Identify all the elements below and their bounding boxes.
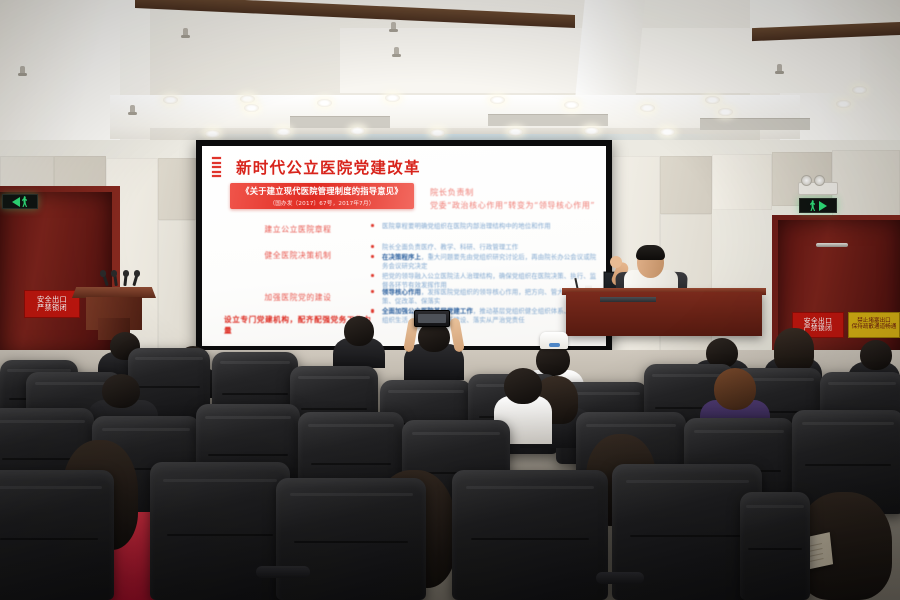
downlight xyxy=(490,96,505,104)
chair-armrest xyxy=(256,566,310,578)
head xyxy=(714,368,756,410)
downlight xyxy=(385,94,400,102)
wall-panel xyxy=(660,156,712,214)
exit-sign-left xyxy=(2,194,38,209)
emergency-lamp xyxy=(814,175,825,186)
podium-microphone-head xyxy=(100,270,106,277)
downlight xyxy=(640,104,655,112)
slide-row-label-3: 加强医院党的建设 xyxy=(232,292,364,303)
audience-chair[interactable] xyxy=(150,462,290,600)
bullet-dot-icon xyxy=(371,274,374,277)
running-man-icon xyxy=(22,196,29,207)
ceiling-center-column xyxy=(575,0,645,100)
bullet-emphasis: 在决策程序上 xyxy=(382,253,421,261)
slide-note-2: 党委“政治核心作用”转变为“领导核心作用” xyxy=(430,200,595,211)
exit-sign-right xyxy=(799,198,837,213)
downlight xyxy=(350,127,365,135)
audience-chair[interactable] xyxy=(0,470,114,600)
downlight xyxy=(660,128,675,136)
slide-bullet: 医院章程要明确党组织在医院内部治理结构中的地位和作用 xyxy=(370,222,600,231)
podium-microphone-head xyxy=(123,270,129,277)
banner-document-number: （国办发〔2017〕67号，2017年7月） xyxy=(269,199,374,207)
exit-door-left[interactable]: 安全出口 严禁锁闭 xyxy=(0,192,112,356)
ceiling xyxy=(0,0,900,150)
sign-line-2: 严禁锁闭 xyxy=(804,325,832,332)
bullet-dot-icon xyxy=(371,309,374,312)
downlight xyxy=(244,104,259,112)
audience-chair[interactable] xyxy=(452,470,608,600)
downlight xyxy=(508,128,523,136)
bullet-dot-icon xyxy=(371,290,374,293)
sprinkler-head xyxy=(130,105,135,114)
audience-chair[interactable] xyxy=(740,492,810,600)
audience-chair[interactable] xyxy=(276,478,426,600)
smartphone[interactable] xyxy=(414,310,450,327)
downlight xyxy=(836,100,851,108)
sprinkler-head xyxy=(777,64,782,73)
laptop-base xyxy=(600,297,656,302)
sprinkler-head xyxy=(391,22,396,31)
room: 安全出口 严禁锁闭 安全出口 严禁锁闭 禁止堵塞出口 保持疏散通道畅通 xyxy=(0,0,900,600)
air-vent xyxy=(290,116,390,128)
bullet-dot-icon xyxy=(371,245,374,248)
slide-title: 新时代公立医院党建改革 xyxy=(236,156,421,178)
nurse-cap xyxy=(540,332,568,349)
long-hair xyxy=(774,328,814,372)
conference-hall-photo: 安全出口 严禁锁闭 安全出口 严禁锁闭 禁止堵塞出口 保持疏散通道畅通 xyxy=(0,0,900,600)
head xyxy=(102,374,140,408)
slide-row-bullets-2: 院长全面负责医疗、教学、科研、行政管理工作 在决策程序上，重大问题要先由党组织研… xyxy=(370,243,600,291)
speaker-hair xyxy=(636,245,665,260)
downlight xyxy=(564,101,579,109)
air-vent xyxy=(488,114,608,126)
downlight xyxy=(584,127,599,135)
air-vent xyxy=(700,118,810,130)
wall-panel xyxy=(158,158,196,220)
bullet-text: 把党的领导融入公立医院法人治理结构，确保党组织在医院决策、执行、监督各环节有效发… xyxy=(382,272,596,289)
speaker-hand xyxy=(610,256,622,268)
slide-bullet: 院长全面负责医疗、教学、科研、行政管理工作 xyxy=(370,243,600,252)
slide-note-1: 院长负责制 xyxy=(430,186,474,198)
slide-policy-banner: 《关于建立现代医院管理制度的指导意见》 （国办发〔2017〕67号，2017年7… xyxy=(230,183,414,209)
wall-panel xyxy=(712,154,772,210)
running-man-icon xyxy=(810,200,817,211)
exit-arrow-icon xyxy=(819,201,827,211)
slide-row-label-1: 建立公立医院章程 xyxy=(232,224,364,235)
door-handle[interactable] xyxy=(816,243,848,247)
head xyxy=(860,340,892,370)
downlight xyxy=(705,96,720,104)
sign-line-2: 严禁锁闭 xyxy=(37,304,67,312)
bullet-dot-icon xyxy=(371,224,374,227)
obstruction-warning-sign: 禁止堵塞出口 保持疏散通道畅通 xyxy=(848,312,900,338)
safety-exit-sign-left: 安全出口 严禁锁闭 xyxy=(24,290,80,318)
slide-bullet: 在决策程序上，重大问题要先由党组织研究讨论后，再由院长办公会议或院务会议研究决定 xyxy=(370,253,600,272)
head xyxy=(504,368,542,404)
podium-microphone-head xyxy=(111,270,117,277)
exit-arrow-icon xyxy=(12,197,20,207)
chair-armrest xyxy=(596,572,644,584)
downlight xyxy=(430,129,445,137)
slide-row-label-2: 健全医院决策机制 xyxy=(232,250,364,261)
sprinkler-head xyxy=(183,28,188,37)
podium-microphone-head xyxy=(134,270,140,277)
bullet-text: 医院章程要明确党组织在医院内部治理结构中的地位和作用 xyxy=(382,222,551,230)
banner-document-title: 《关于建立现代医院管理制度的指导意见》 xyxy=(241,185,402,197)
projection-screen-frame: 新时代公立医院党建改革 《关于建立现代医院管理制度的指导意见》 （国办发〔201… xyxy=(196,140,612,352)
sprinkler-head xyxy=(20,66,25,75)
bullet-dot-icon xyxy=(371,255,374,258)
downlight xyxy=(163,96,178,104)
downlight xyxy=(276,128,291,136)
bullet-text: 院长全面负责医疗、教学、科研、行政管理工作 xyxy=(382,243,518,251)
downlight xyxy=(240,95,255,103)
wall-panel xyxy=(158,220,196,354)
downlight xyxy=(317,99,332,107)
sign-line-2: 保持疏散通道畅通 xyxy=(852,325,897,331)
projection-screen: 新时代公立医院党建改革 《关于建立现代医院管理制度的指导意见》 （国办发〔201… xyxy=(202,146,606,346)
downlight xyxy=(205,130,220,138)
sprinkler-head xyxy=(394,47,399,56)
downlight xyxy=(718,108,733,116)
presentation-slide: 新时代公立医院党建改革 《关于建立现代医院管理制度的指导意见》 （国办发〔201… xyxy=(202,146,606,346)
slide-row-bullets-1: 医院章程要明确党组织在医院内部治理结构中的地位和作用 xyxy=(370,222,600,232)
bullet-emphasis: 领导核心作用 xyxy=(382,288,421,296)
emergency-lamp xyxy=(801,175,812,186)
head-table xyxy=(566,292,762,336)
slide-decoration-dots xyxy=(212,157,221,180)
downlight xyxy=(852,86,867,94)
head xyxy=(344,316,374,346)
